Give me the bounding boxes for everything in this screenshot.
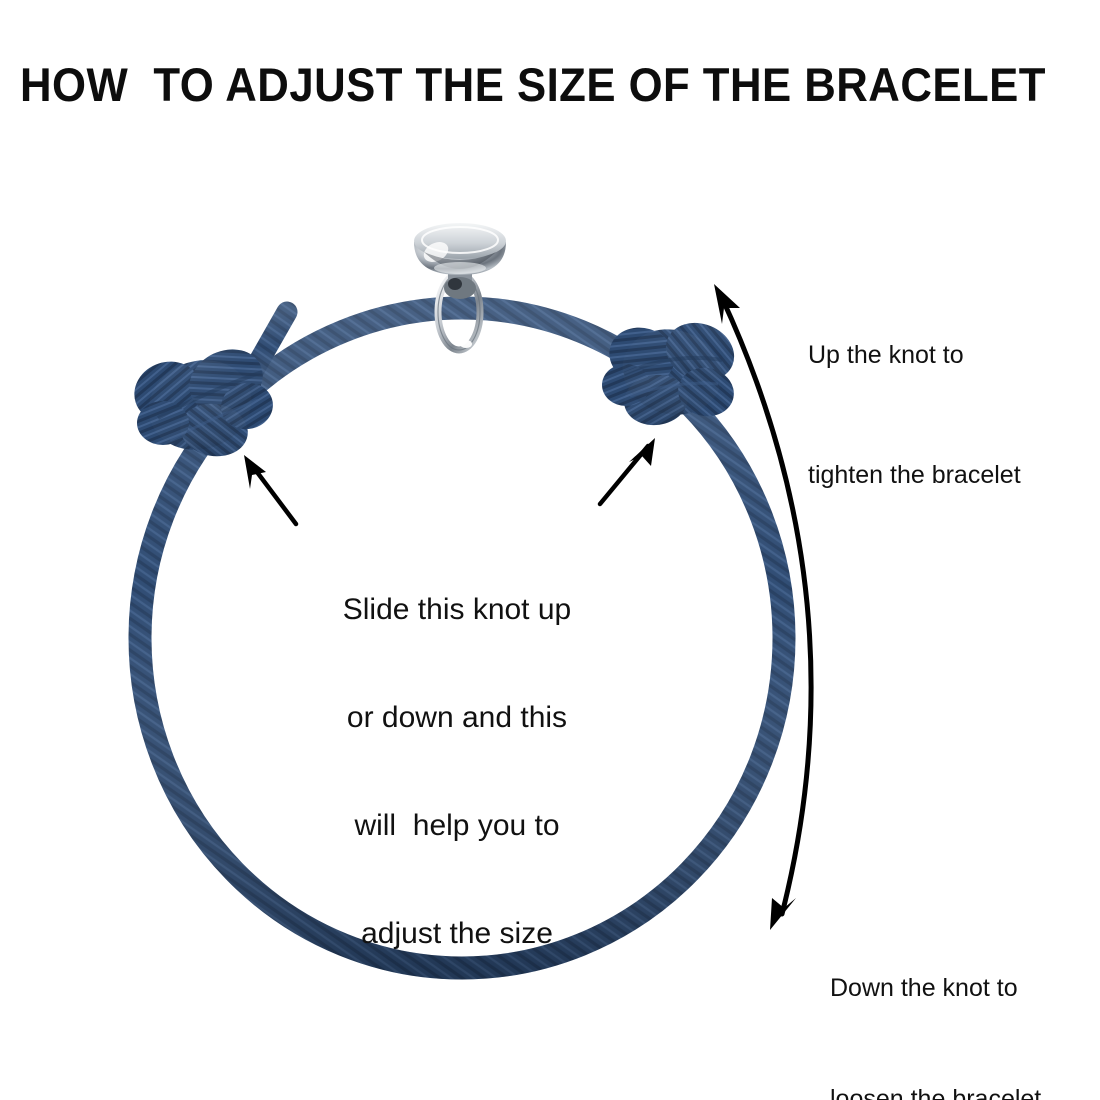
down-the-knot-callout: Down the knot to loosen the bracelet (830, 896, 1041, 1100)
down-the-knot-line-2: loosen the bracelet (830, 1081, 1041, 1100)
slide-knot-line-1: Slide this knot up (292, 592, 622, 628)
slide-knot-callout: Slide this knot up or down and this will… (292, 520, 622, 1024)
arrow-to-right-knot (600, 438, 655, 504)
up-the-knot-line-2: tighten the bracelet (808, 455, 1021, 495)
right-sliding-knot (602, 313, 743, 429)
down-the-knot-line-1: Down the knot to (830, 970, 1041, 1007)
up-the-knot-line-1: Up the knot to (808, 335, 1021, 375)
slide-knot-line-4: adjust the size (292, 916, 622, 952)
bracelet-instruction-graphic: HOW TO ADJUST THE SIZE OF THE BRACELET (0, 0, 1100, 1100)
arrow-to-left-knot (244, 455, 296, 524)
slide-knot-line-3: will help you to (292, 808, 622, 844)
slide-knot-line-2: or down and this (292, 700, 622, 736)
up-the-knot-callout: Up the knot to tighten the bracelet (808, 255, 1021, 575)
metal-dome-clasp (414, 223, 506, 299)
